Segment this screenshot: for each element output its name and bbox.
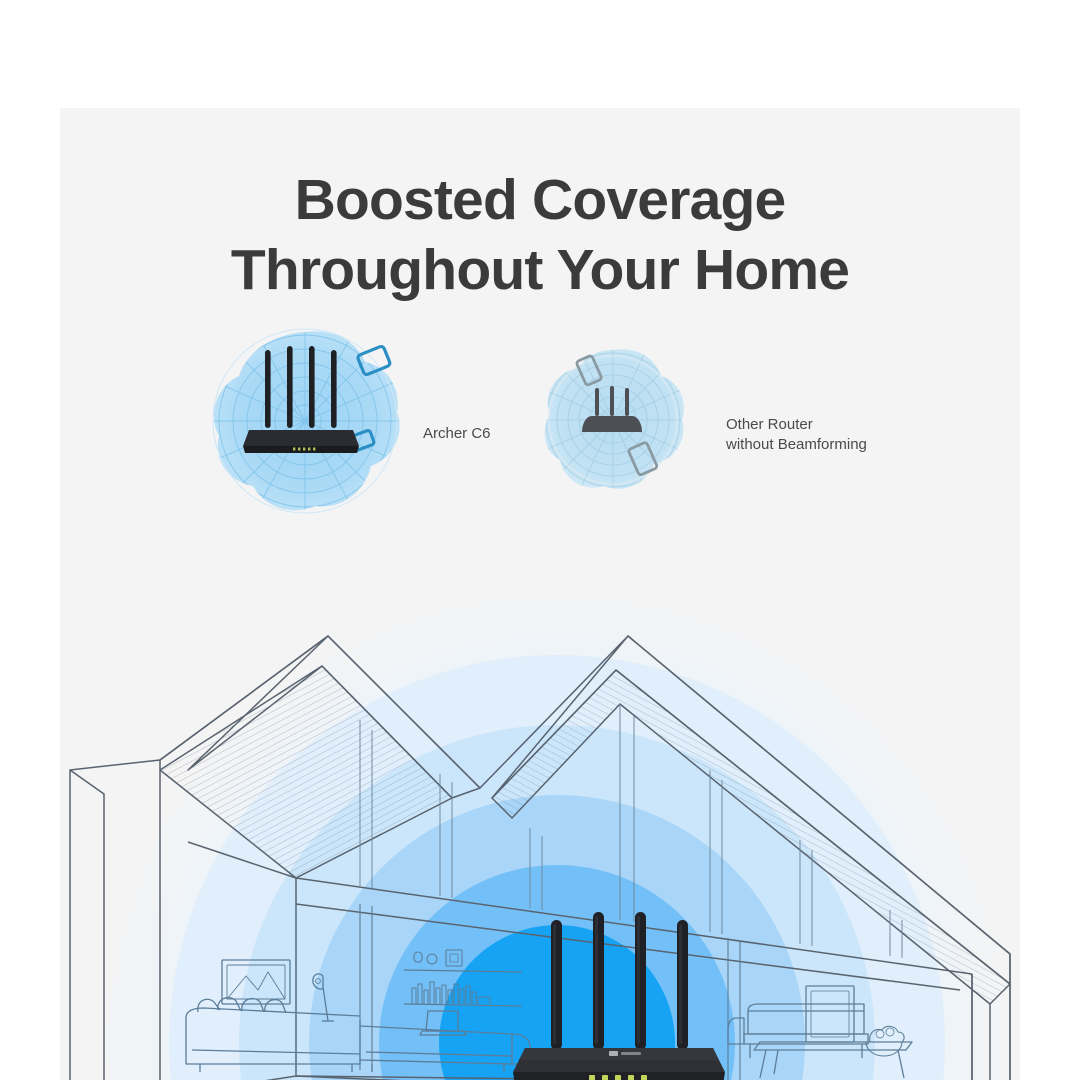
- content-panel: Boosted Coverage Throughout Your Home: [60, 108, 1020, 1080]
- page-title: Boosted Coverage Throughout Your Home: [60, 165, 1020, 305]
- headline-line-2: Throughout Your Home: [60, 235, 1020, 305]
- other-router-coverage-blob: [538, 344, 688, 494]
- archer-c6-label: Archer C6: [423, 424, 491, 444]
- coverage-comparison: Archer C6: [60, 326, 1020, 516]
- screenshot-root: Boosted Coverage Throughout Your Home: [0, 0, 1080, 1080]
- home-cutaway-illustration: [60, 498, 1020, 1080]
- archer-c6-coverage-blob: [205, 326, 405, 516]
- other-router-label: Other Router without Beamforming: [726, 415, 867, 456]
- polar-grid-large: [205, 326, 405, 516]
- headline-line-1: Boosted Coverage: [60, 165, 1020, 235]
